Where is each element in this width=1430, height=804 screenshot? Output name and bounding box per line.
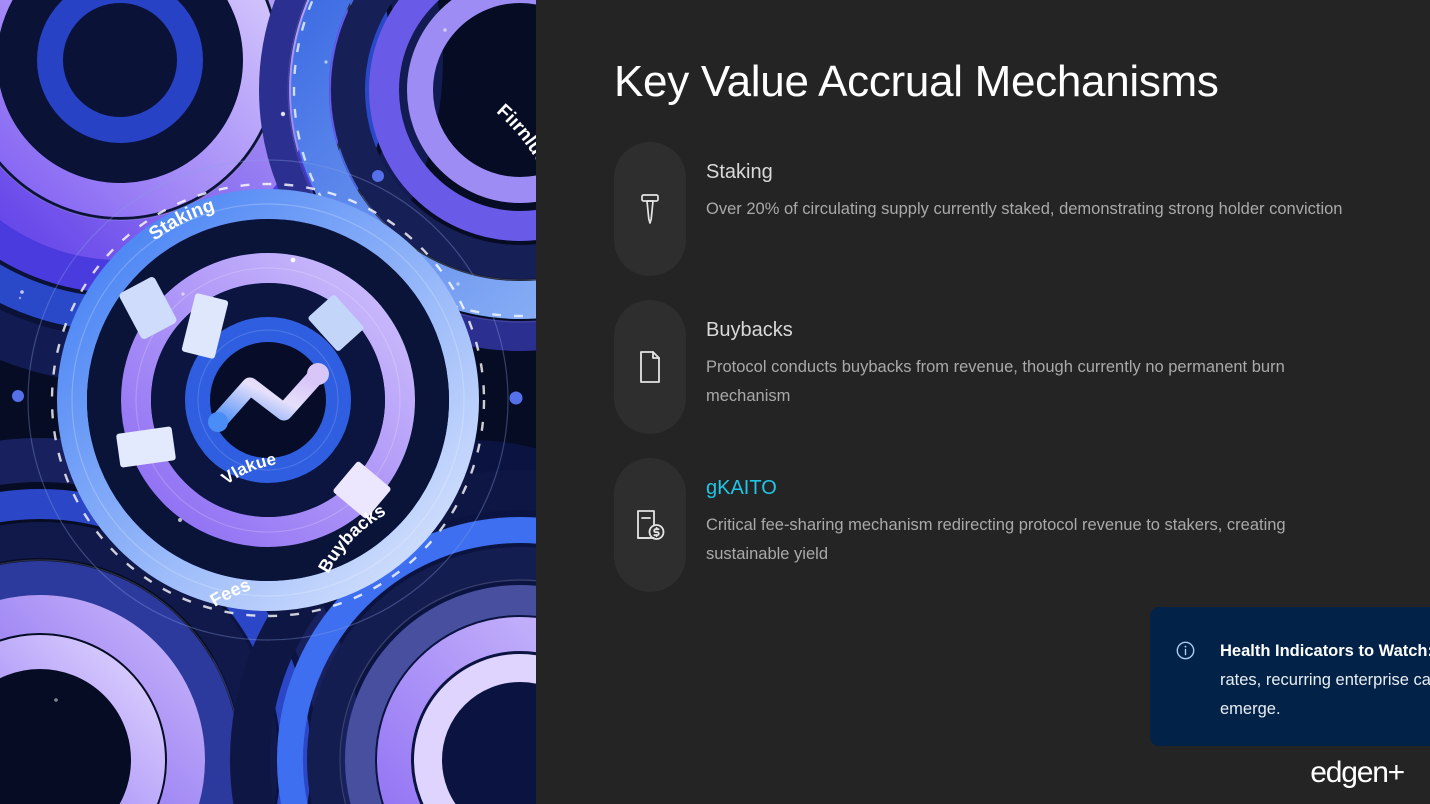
- slide-root: Staking Fiırnlue Vlakue Fees Buybacks Ke…: [0, 0, 1430, 804]
- list-item-buybacks[interactable]: Buybacks Protocol conducts buybacks from…: [614, 300, 1384, 434]
- item-title: gKAITO: [706, 475, 1384, 501]
- icon-tile: [614, 142, 686, 276]
- item-body: Buybacks Protocol conducts buybacks from…: [686, 300, 1384, 411]
- info-circle-icon: [1176, 637, 1198, 746]
- orbit-node: [12, 390, 24, 402]
- orbit-node: [372, 170, 384, 182]
- page-title: Key Value Accrual Mechanisms: [614, 57, 1219, 107]
- icon-tile: [614, 458, 686, 592]
- stake-nail-icon: [637, 192, 663, 226]
- edgen-logo: edgen+: [1310, 756, 1404, 790]
- concentric-rings-illustration: Staking Fiırnlue Vlakue Fees Buybacks: [0, 0, 536, 804]
- list-item-staking[interactable]: Staking Over 20% of circulating supply c…: [614, 142, 1384, 276]
- illustration-panel: Staking Fiırnlue Vlakue Fees Buybacks: [0, 0, 536, 804]
- item-title: Staking: [706, 159, 1384, 185]
- callout-text: Health Indicators to Watch: Percentage o…: [1198, 637, 1430, 746]
- item-description: Critical fee-sharing mechanism redirecti…: [706, 511, 1366, 569]
- list-item-gkaito[interactable]: gKAITO Critical fee-sharing mechanism re…: [614, 458, 1384, 592]
- mechanism-list: Staking Over 20% of circulating supply c…: [614, 142, 1384, 616]
- receipt-dollar-icon: [634, 508, 666, 542]
- item-description: Over 20% of circulating supply currently…: [706, 195, 1366, 224]
- item-title: Buybacks: [706, 317, 1384, 343]
- icon-tile: [614, 300, 686, 434]
- orbit-node: [510, 392, 523, 405]
- callout-label: Health Indicators to Watch:: [1220, 642, 1430, 660]
- item-description: Protocol conducts buybacks from revenue,…: [706, 353, 1366, 411]
- content-panel: Key Value Accrual Mechanisms Staking Ove…: [536, 0, 1430, 804]
- document-file-icon: [636, 350, 664, 384]
- item-body: Staking Over 20% of circulating supply c…: [686, 142, 1384, 224]
- item-body: gKAITO Critical fee-sharing mechanism re…: [686, 458, 1384, 569]
- health-indicators-callout: Health Indicators to Watch: Percentage o…: [1150, 607, 1430, 746]
